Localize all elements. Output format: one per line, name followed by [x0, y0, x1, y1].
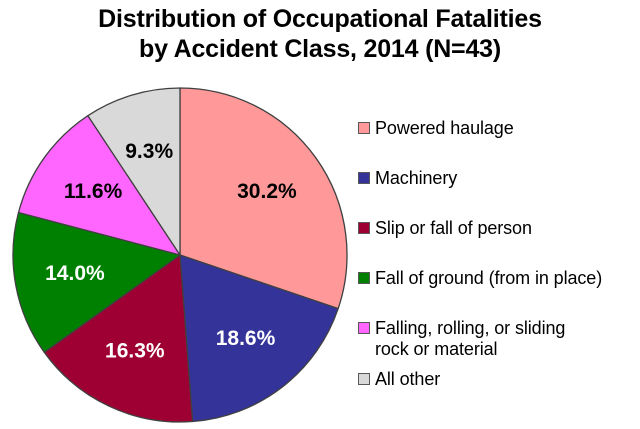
legend-item[interactable]: Fall of ground (from in place) — [358, 268, 602, 289]
legend-item-label: Powered haulage — [375, 118, 514, 139]
pie-slice-value-label: 14.0% — [45, 262, 105, 285]
legend-item[interactable]: All other — [358, 369, 440, 390]
legend-item-label: Slip or fall of person — [375, 218, 532, 239]
legend-item[interactable]: Falling, rolling, or sliding rock or mat… — [358, 318, 565, 360]
pie-slice-value-label: 9.3% — [125, 140, 173, 163]
legend-item[interactable]: Slip or fall of person — [358, 218, 532, 239]
pie-svg: 30.2%18.6%16.3%14.0%11.6%9.3% — [0, 78, 360, 429]
legend-item[interactable]: Powered haulage — [358, 118, 514, 139]
chart-title: Distribution of Occupational Fatalities … — [0, 4, 640, 64]
legend-item-label: All other — [375, 369, 440, 390]
pie-plot-area: 30.2%18.6%16.3%14.0%11.6%9.3% — [0, 78, 360, 429]
pie-slice-value-label: 11.6% — [64, 180, 123, 203]
legend-color-swatch — [358, 222, 370, 234]
legend-color-swatch — [358, 272, 370, 284]
pie-slice-value-label: 16.3% — [105, 339, 165, 362]
legend-color-swatch — [358, 172, 370, 184]
legend-color-swatch — [358, 373, 370, 385]
legend-color-swatch — [358, 322, 370, 334]
legend-item[interactable]: Machinery — [358, 168, 457, 189]
legend-item-label: Machinery — [375, 168, 457, 189]
legend-item-label: Falling, rolling, or sliding rock or mat… — [375, 318, 565, 360]
pie-slice-value-label: 18.6% — [216, 327, 276, 350]
pie-slice-group — [13, 88, 347, 422]
legend-color-swatch — [358, 122, 370, 134]
pie-chart-figure: Distribution of Occupational Fatalities … — [0, 0, 640, 429]
pie-slice-value-label: 30.2% — [237, 180, 297, 203]
legend-item-label: Fall of ground (from in place) — [375, 268, 602, 289]
